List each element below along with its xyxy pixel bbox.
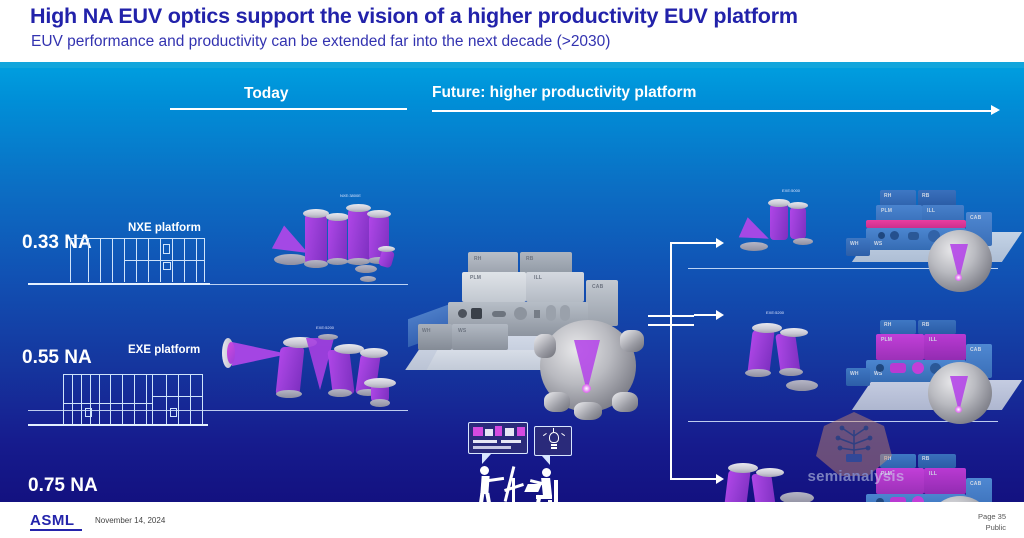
today-underline — [170, 108, 407, 110]
machine-tag-rh: RH — [474, 256, 482, 262]
page-title: High NA EUV optics support the vision of… — [30, 4, 798, 29]
column-header-today: Today — [244, 85, 289, 103]
platform-label-exe: EXE platform — [128, 344, 200, 356]
footer-classification: Public — [986, 523, 1006, 532]
na-label-033: 0.33 NA — [22, 232, 92, 254]
page-subtitle: EUV performance and productivity can be … — [31, 33, 610, 51]
future-arrow-head-icon — [991, 105, 1000, 115]
machine-tag-wh: WH — [422, 328, 431, 334]
slide-root: High NA EUV optics support the vision of… — [0, 0, 1024, 538]
na-label-055: 0.55 NA — [22, 347, 92, 369]
machine-tag-ws: WS — [458, 328, 466, 334]
future-arrow-line — [432, 110, 997, 112]
machine-tag-cab: CAB — [592, 284, 603, 290]
slide-body: Today Future: higher productivity platfo… — [0, 62, 1024, 502]
slide-footer: ASML November 14, 2024 Page 35 Public — [0, 502, 1024, 538]
asml-logo-underline — [30, 529, 82, 531]
footer-page-number: Page 35 — [978, 512, 1006, 521]
machine-tag-ill: ILL — [534, 275, 542, 281]
platform-label-nxe: NXE platform — [128, 222, 201, 234]
column-header-future: Future: higher productivity platform — [432, 84, 696, 102]
slide-header: High NA EUV optics support the vision of… — [0, 0, 1024, 62]
na-label-075: 0.75 NA — [28, 475, 98, 497]
footer-date: November 14, 2024 — [95, 516, 165, 525]
top-accent-band — [0, 62, 1024, 68]
engineers-icon-group — [468, 422, 584, 502]
machine-tag-rb: RB — [526, 256, 534, 262]
machine-tag-plm: PLM — [470, 275, 481, 281]
idea-bubble-icon — [534, 426, 572, 456]
data-bubble-icon — [468, 422, 528, 454]
asml-logo: ASML — [30, 512, 75, 529]
